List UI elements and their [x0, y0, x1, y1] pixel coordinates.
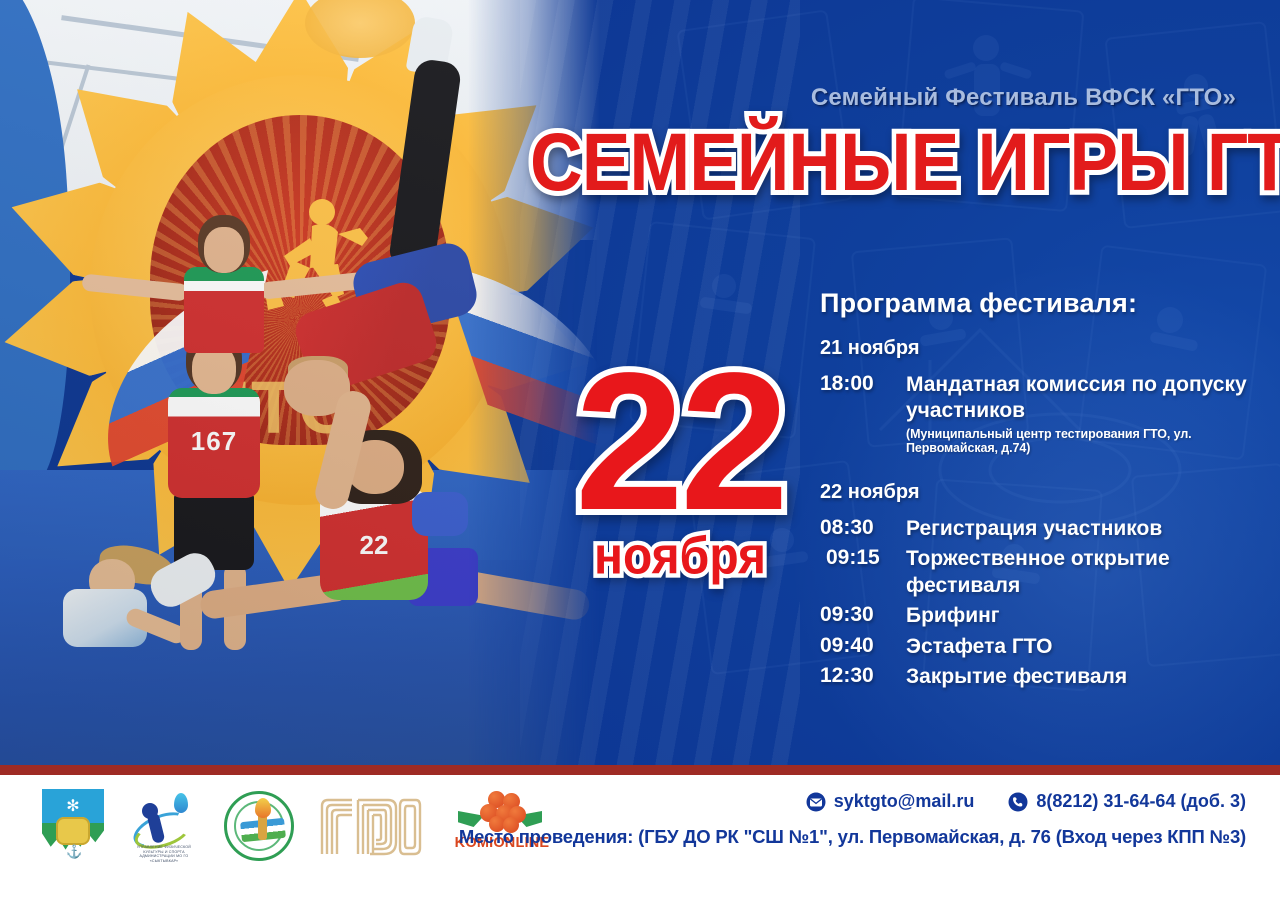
- program-row: 08:30 Регистрация участников: [820, 516, 1260, 542]
- venue-text: Место проведения: (ГБУ ДО РК "СШ №1", ул…: [459, 826, 1246, 848]
- program-row: 18:00 Мандатная комиссия по допуску учас…: [820, 372, 1260, 425]
- phone-icon: [1008, 792, 1028, 812]
- footer-contacts: syktgto@mail.ru 8(8212) 31-64-64 (доб. 3…: [459, 791, 1246, 848]
- phone-contact[interactable]: 8(8212) 31-64-64 (доб. 3): [1008, 791, 1246, 812]
- program-description: Регистрация участников: [906, 516, 1162, 542]
- program-time: 09:40: [820, 634, 906, 658]
- program-heading: Программа фестиваля:: [820, 288, 1260, 319]
- program-row: 12:30 Закрытие фестиваля: [820, 664, 1260, 690]
- footer: ✻ ⚓ УПРАВЛЕНИЕ ФИЗИЧЕСКОЙ КУЛЬТУРЫ И СПО…: [0, 775, 1280, 905]
- program-day1-note: (Муниципальный центр тестирования ГТО, у…: [906, 427, 1260, 455]
- center-sport-komi-logo: [224, 791, 294, 861]
- program-row: 09:15 Торжественное открытие фестиваля: [820, 546, 1260, 599]
- sport-administration-logo: УПРАВЛЕНИЕ ФИЗИЧЕСКОЙ КУЛЬТУРЫ И СПОРТА …: [128, 789, 200, 863]
- program-row: 09:40 Эстафета ГТО: [820, 634, 1260, 660]
- poster-stage: ГТО 167: [0, 0, 1280, 765]
- email-contact[interactable]: syktgto@mail.ru: [806, 791, 975, 812]
- program-description: Мандатная комиссия по допуску участников: [906, 372, 1260, 425]
- poster: ГТО 167: [0, 0, 1280, 905]
- big-date: 22 ноября: [540, 358, 820, 581]
- program-description: Эстафета ГТО: [906, 634, 1052, 660]
- sport-administration-logo-caption: УПРАВЛЕНИЕ ФИЗИЧЕСКОЙ КУЛЬТУРЫ И СПОРТА …: [128, 845, 200, 863]
- program-day2-rows: 08:30 Регистрация участников 09:15 Торже…: [820, 516, 1260, 691]
- page-title: СЕМЕЙНЫЕ ИГРЫ ГТО: [530, 122, 1260, 204]
- program-section: Программа фестиваля: 21 ноября 18:00 Ман…: [820, 288, 1260, 695]
- syktyvkar-coat-of-arms-logo: ✻ ⚓: [42, 789, 104, 863]
- festival-subtitle: Семейный Фестиваль ВФСК «ГТО»: [811, 84, 1236, 112]
- program-time: 12:30: [820, 664, 906, 688]
- program-description: Торжественное открытие фестиваля: [906, 546, 1260, 599]
- program-time: 09:15: [820, 546, 906, 570]
- gto-wordmark-logo: [318, 796, 422, 856]
- program-description: Закрытие фестиваля: [906, 664, 1127, 690]
- festival-photo: ГТО 167: [0, 0, 600, 765]
- divider-red-bar: [0, 765, 1280, 775]
- email-text: syktgto@mail.ru: [834, 791, 975, 812]
- program-day2-label: 22 ноября: [820, 481, 1260, 504]
- program-day1-rows: 18:00 Мандатная комиссия по допуску учас…: [820, 372, 1260, 455]
- program-row: 09:30 Брифинг: [820, 603, 1260, 629]
- envelope-icon: [806, 792, 826, 812]
- program-day1-label: 21 ноября: [820, 337, 1260, 360]
- big-date-month: ноября: [540, 530, 820, 583]
- program-time: 08:30: [820, 516, 906, 540]
- program-time: 18:00: [820, 372, 906, 396]
- program-description: Брифинг: [906, 603, 1000, 629]
- phone-text: 8(8212) 31-64-64 (доб. 3): [1036, 791, 1246, 812]
- big-date-number: 22: [540, 358, 820, 527]
- program-time: 09:30: [820, 603, 906, 627]
